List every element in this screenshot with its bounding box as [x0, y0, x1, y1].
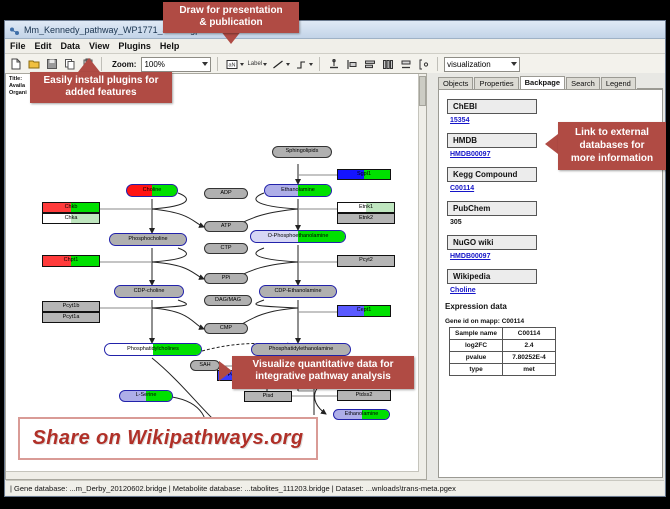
copy-icon[interactable] — [62, 57, 77, 72]
share-text: Share on Wikipathways.org — [33, 427, 304, 450]
node-label: L-Serine — [136, 393, 157, 399]
db-block-chebi: ChEBI 15354 — [447, 96, 662, 124]
exp-val-type: met — [503, 364, 556, 376]
callout-easily-install-plugins: Easily install plugins for added feature… — [30, 72, 172, 103]
tab-search[interactable]: Search — [566, 77, 600, 89]
callout-link-line2: databases for — [558, 139, 666, 152]
share-banner: Share on Wikipathways.org — [18, 417, 318, 460]
callout-viz-line1: Visualize quantitative data for — [232, 359, 414, 371]
gene-ptdss2[interactable]: Ptdss2 — [337, 390, 391, 401]
callout-plugins-line2: added features — [30, 87, 172, 99]
menu-item-help[interactable]: Help — [160, 41, 180, 51]
menu-item-file[interactable]: File — [10, 41, 26, 51]
node-label: DAG/MAG — [215, 298, 241, 304]
node-label: Pcyt1b — [63, 304, 80, 310]
tab-backpage[interactable]: Backpage — [520, 76, 565, 89]
gene-pcyt1b[interactable]: Pcyt1b — [42, 301, 100, 312]
db-block-nugo: NuGO wiki HMDB00097 — [447, 232, 662, 260]
node-label: Sphingolipids — [286, 149, 319, 155]
node-label: ADP — [220, 191, 231, 197]
node-label: Ptdss2 — [356, 393, 373, 399]
exp-key-sample-name: Sample name — [450, 328, 503, 340]
chevron-down-icon — [202, 62, 208, 66]
align-columns-icon[interactable] — [380, 57, 395, 72]
node-label: Chka — [65, 216, 78, 222]
visualization-combo[interactable]: visualization — [444, 57, 520, 72]
node-label: Phosphocholine — [128, 237, 167, 243]
label-icon: Label — [247, 61, 262, 67]
toolbar-separator-4 — [437, 57, 438, 71]
statusbar: | Gene database: ...m_Derby_20120602.bri… — [6, 480, 664, 495]
node-label: Sgpl1 — [357, 172, 371, 178]
exp-key-log2fc: log2FC — [450, 340, 503, 352]
callout-link-line3: more information — [558, 152, 666, 165]
connector-tool[interactable] — [293, 57, 313, 72]
node-label: O-Phosphoethanolamine — [268, 234, 329, 240]
data-node-icon: aN — [224, 57, 239, 72]
node-label: CDP-choline — [134, 289, 165, 295]
toolbar-separator-2 — [217, 57, 218, 71]
gene-cept1[interactable]: Cept1 — [337, 305, 391, 317]
chevron-down-icon-2 — [240, 63, 244, 66]
line-tool[interactable] — [270, 57, 290, 72]
table-row: pvalue 7.80252E-4 — [450, 352, 556, 364]
node-label: Ethanolamine — [281, 188, 315, 194]
menu-item-edit[interactable]: Edit — [35, 41, 52, 51]
toolbar-separator — [101, 57, 102, 71]
exp-key-pvalue: pvalue — [450, 352, 503, 364]
db-title-pubchem: PubChem — [447, 201, 537, 216]
node-phosphatidylcholines[interactable]: Phosphatidylcholines — [104, 343, 202, 356]
screenshot-root: Mm_Kennedy_pathway_WP1771_45176.gpml Fil… — [0, 0, 670, 509]
canvas-vertical-scrollbar[interactable] — [418, 74, 426, 479]
node-label: SAH — [199, 363, 210, 369]
pathvisio-app-icon — [9, 24, 20, 35]
node-label: CDP-Ethanolamine — [274, 289, 321, 295]
callout-plugins-line1: Easily install plugins for — [30, 75, 172, 87]
node-dag-mag[interactable]: DAG/MAG — [204, 295, 252, 306]
node-ctp[interactable]: CTP — [204, 243, 248, 254]
node-adp[interactable]: ADP — [204, 188, 248, 199]
node-ppi[interactable]: PPi — [204, 273, 248, 284]
gene-pcyt1a[interactable]: Pcyt1a — [42, 312, 100, 323]
expression-data-heading: Expression data — [445, 302, 662, 311]
db-block-wikipedia: Wikipedia Choline — [447, 266, 662, 294]
chevron-down-icon-5 — [309, 63, 313, 66]
menubar: File Edit Data View Plugins Help — [5, 39, 665, 54]
zoom-value: 100% — [144, 60, 164, 69]
zoom-combo[interactable]: 100% — [141, 57, 211, 72]
node-label: Ethanolamine — [345, 412, 379, 418]
group-icon[interactable] — [416, 57, 431, 72]
save-icon[interactable] — [44, 57, 59, 72]
node-label: Cept1 — [357, 308, 372, 314]
node-label: Etnk1 — [359, 205, 373, 211]
node-sah[interactable]: SAH — [190, 360, 220, 371]
connector-icon — [293, 57, 308, 72]
exp-val-sample-name: C00114 — [503, 328, 556, 340]
db-block-pubchem: PubChem 305 — [447, 198, 662, 226]
tab-legend[interactable]: Legend — [601, 77, 636, 89]
node-o-phosphoethanolamine[interactable]: O-Phosphoethanolamine — [250, 230, 346, 243]
canvas-vscroll-thumb[interactable] — [419, 76, 426, 106]
tab-objects[interactable]: Objects — [438, 77, 473, 89]
node-label: Chpt1 — [64, 258, 79, 264]
new-file-icon[interactable] — [8, 57, 23, 72]
gene-etnk1[interactable]: Etnk1 — [337, 202, 395, 213]
svg-text:aN: aN — [228, 62, 235, 68]
node-label: CTP — [221, 246, 232, 252]
gene-chkb[interactable]: Chkb — [42, 202, 100, 213]
node-label: Chkb — [65, 205, 78, 211]
node-choline-top[interactable]: Choline — [126, 184, 178, 197]
menu-item-view[interactable]: View — [89, 41, 109, 51]
node-atp[interactable]: ATP — [204, 221, 248, 232]
callout-draw-line2: & publication — [163, 17, 299, 29]
node-label: Choline — [143, 188, 162, 194]
expression-table: Sample name C00114 log2FC 2.4 pvalue 7.8… — [449, 327, 556, 376]
align-left-icon[interactable] — [344, 57, 359, 72]
node-label: Pcyt2 — [359, 258, 373, 264]
node-phosphocholine[interactable]: Phosphocholine — [109, 233, 187, 246]
db-link-wikipedia[interactable]: Choline — [450, 287, 662, 294]
canvas-horizontal-scrollbar[interactable] — [6, 471, 419, 479]
callout-plugins-arrow — [78, 58, 100, 72]
node-label: Etnk2 — [359, 216, 373, 222]
window-titlebar: Mm_Kennedy_pathway_WP1771_45176.gpml — [5, 21, 665, 39]
menu-item-data[interactable]: Data — [61, 41, 81, 51]
callout-link-arrow — [545, 134, 558, 154]
node-label: Phosphatidylethanolamine — [269, 347, 334, 353]
node-cmp[interactable]: CMP — [204, 323, 248, 334]
db-title-wikipedia: Wikipedia — [447, 269, 537, 284]
chevron-down-icon-4 — [286, 63, 290, 66]
gene-id-on-mapp: Gene id on mapp: C00114 — [445, 318, 662, 325]
side-panel-tabs: Objects Properties Backpage Search Legen… — [438, 76, 663, 89]
callout-visualize-quantitative-data: Visualize quantitative data for integrat… — [232, 356, 414, 389]
db-link-nugo[interactable]: HMDB00097 — [450, 253, 662, 260]
callout-viz-arrow — [219, 361, 232, 381]
node-cdp-choline[interactable]: CDP-choline — [114, 285, 184, 298]
gene-pisd[interactable]: Pisd — [244, 391, 292, 402]
gene-etnk2[interactable]: Etnk2 — [337, 213, 395, 224]
table-row: log2FC 2.4 — [450, 340, 556, 352]
chevron-down-icon-3 — [263, 63, 267, 66]
gene-chpt1[interactable]: Chpt1 — [42, 255, 100, 267]
exp-val-log2fc: 2.4 — [503, 340, 556, 352]
callout-viz-line2: integrative pathway analysis — [232, 371, 414, 383]
label-tool[interactable]: Label — [247, 61, 267, 67]
node-ethanolamine-right[interactable]: Ethanolamine — [333, 409, 390, 420]
db-link-kegg[interactable]: C00114 — [450, 185, 662, 192]
data-node-tool[interactable]: aN — [224, 57, 244, 72]
exp-key-type: type — [450, 364, 503, 376]
db-title-kegg: Kegg Compound — [447, 167, 537, 182]
db-title-hmdb: HMDB — [447, 133, 537, 148]
stack-icon[interactable] — [398, 57, 413, 72]
open-folder-icon[interactable] — [26, 57, 41, 72]
callout-link-line1: Link to external — [558, 126, 666, 139]
table-row: type met — [450, 364, 556, 376]
gene-sgpl1[interactable]: Sgpl1 — [337, 169, 391, 180]
line-icon — [270, 57, 285, 72]
node-label: Phosphatidylcholines — [127, 347, 179, 353]
node-label: Pcyt1a — [63, 315, 80, 321]
db-value-pubchem: 305 — [450, 219, 662, 226]
callout-link-to-external-databases: Link to external databases for more info… — [558, 122, 666, 170]
node-label: PPi — [222, 276, 231, 282]
toolbar-separator-3 — [319, 57, 320, 71]
node-l-serine-left[interactable]: L-Serine — [119, 390, 173, 402]
db-title-nugo: NuGO wiki — [447, 235, 537, 250]
exp-val-pvalue: 7.80252E-4 — [503, 352, 556, 364]
tab-properties[interactable]: Properties — [474, 77, 518, 89]
status-text: | Gene database: ...m_Derby_20120602.bri… — [6, 484, 456, 493]
node-label: ATP — [221, 224, 231, 230]
callout-draw-line1: Draw for presentation — [163, 5, 299, 17]
node-label: CMP — [220, 326, 232, 332]
chevron-down-icon-6 — [511, 62, 517, 66]
node-sphingolipids[interactable]: Sphingolipids — [272, 146, 332, 158]
visualization-value: visualization — [447, 60, 491, 69]
node-ethanolamine[interactable]: Ethanolamine — [264, 184, 332, 197]
callout-draw-for-presentation: Draw for presentation & publication — [163, 2, 299, 33]
db-title-chebi: ChEBI — [447, 99, 537, 114]
gene-chka[interactable]: Chka — [42, 213, 100, 224]
anchor-icon[interactable] — [326, 57, 341, 72]
node-label: Pisd — [263, 394, 274, 400]
menu-item-plugins[interactable]: Plugins — [118, 41, 151, 51]
zoom-label: Zoom: — [112, 60, 136, 69]
align-rows-icon[interactable] — [362, 57, 377, 72]
gene-pcyt2[interactable]: Pcyt2 — [337, 255, 395, 267]
node-cdp-ethanolamine[interactable]: CDP-Ethanolamine — [259, 285, 337, 298]
table-row: Sample name C00114 — [450, 328, 556, 340]
node-phosphatidylethanolamine[interactable]: Phosphatidylethanolamine — [251, 343, 351, 356]
